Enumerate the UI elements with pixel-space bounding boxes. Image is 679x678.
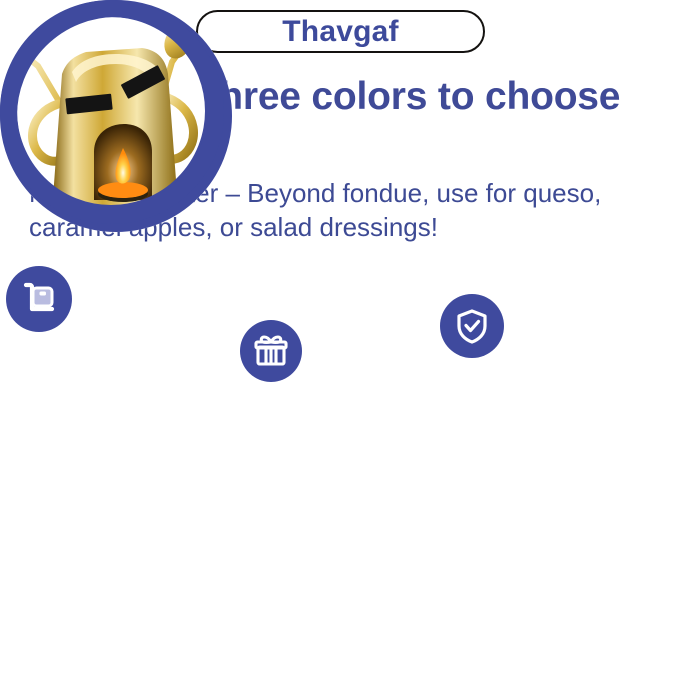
shipping-box-icon bbox=[6, 266, 72, 332]
shield-check-icon bbox=[440, 294, 504, 358]
product-photo-gold bbox=[0, 0, 224, 224]
brand-badge-label: Thavgaf bbox=[282, 17, 398, 47]
gift-icon bbox=[240, 320, 302, 382]
product-circle-red bbox=[0, 222, 232, 454]
brand-badge: Thavgaf bbox=[196, 10, 485, 53]
product-circle-gold bbox=[0, 454, 224, 678]
product-infographic: Thavgaf There are three colors to choose… bbox=[0, 0, 679, 628]
gold-fondue-warmer-art bbox=[0, 0, 224, 224]
